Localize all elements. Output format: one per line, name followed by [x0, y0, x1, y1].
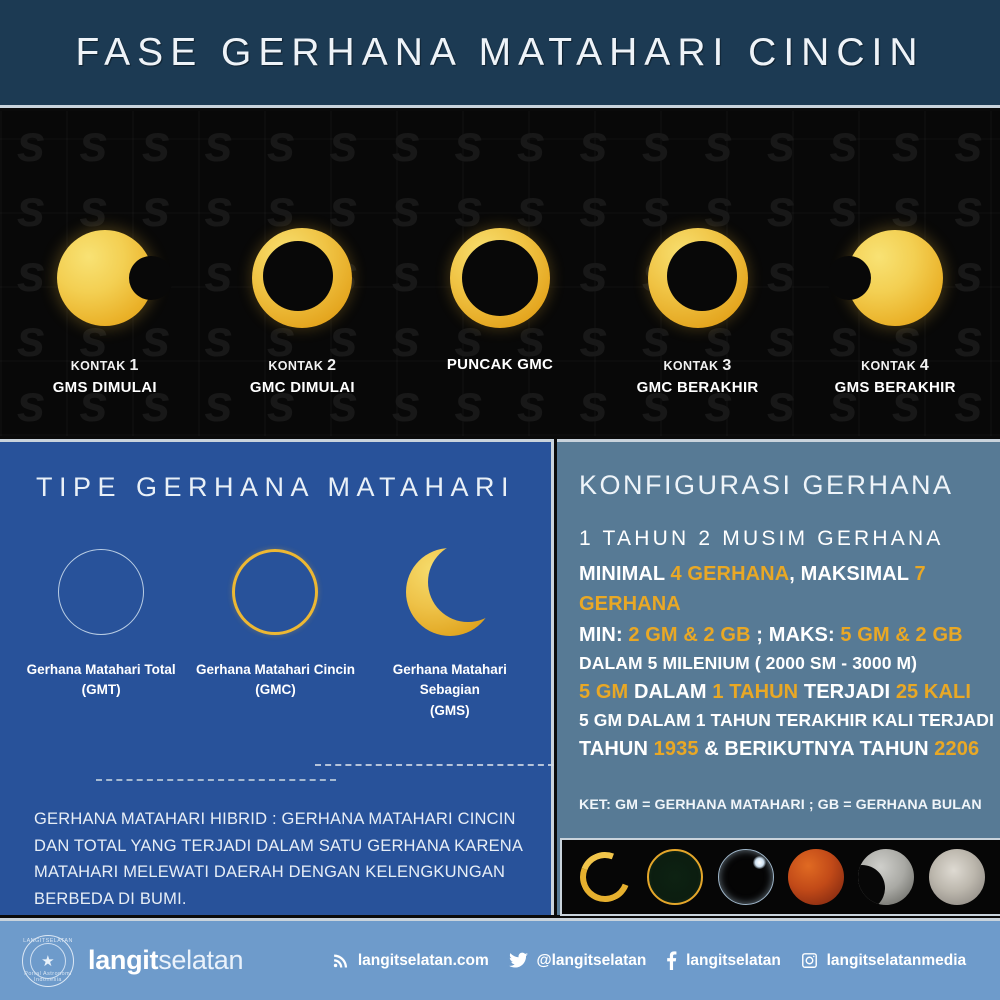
highlight-value: 2206 — [934, 738, 979, 760]
text-segment: ; MAKS: — [751, 624, 841, 646]
phase-art-ring-thin-upper-left — [603, 215, 793, 340]
sun-disc-icon — [847, 230, 943, 326]
types-row: Gerhana Matahari Total (GMT) Gerhana Mat… — [0, 539, 551, 721]
social-label: langitselatanmedia — [827, 952, 967, 970]
type-art — [193, 539, 358, 644]
phase-caption: KONTAK 2 GMC DIMULAI — [207, 354, 397, 399]
social-link-instagram[interactable]: langitselatanmedia — [801, 952, 967, 970]
social-label: langitselatan.com — [358, 952, 489, 970]
type-label-line1: Gerhana Matahari Sebagian — [367, 660, 532, 701]
type-art — [19, 539, 184, 644]
infographic-page: FASE GERHANA MATAHARI CINCIN sssssssssss… — [0, 0, 1000, 1000]
text-segment: , MAKSIMAL — [789, 563, 914, 585]
phase-art-sun-bite-right — [10, 215, 200, 340]
phase-kontak-1: KONTAK 1 GMS DIMULAI — [10, 111, 200, 399]
type-label: Gerhana Matahari Total (GMT) — [19, 660, 184, 701]
hybrid-eclipse-text: GERHANA MATAHARI HIBRID : GERHANA MATAHA… — [34, 806, 532, 913]
social-links: langitselatan.com @langitselatan langits… — [322, 951, 1000, 970]
text-segment: TERJADI — [798, 681, 896, 703]
phase-art-ring-thin-upper-right — [207, 215, 397, 340]
text-segment: MIN: — [579, 624, 628, 646]
moon-bite-icon — [827, 256, 871, 300]
highlight-value: 25 KALI — [896, 681, 971, 703]
phase-kontak-label: KONTAK 3 — [603, 354, 793, 377]
eclipse-phases-section: ssssssssssssssssssssssssssssssssssssssss… — [0, 111, 1000, 436]
photo-blood-moon — [788, 849, 844, 905]
highlight-value: 5 GM & 2 GB — [840, 624, 962, 646]
phase-caption: PUNCAK GMC — [405, 354, 595, 376]
brand-block[interactable]: LANGITSELATAN ★ Portal Astronomi Indones… — [22, 935, 322, 987]
header-banner: FASE GERHANA MATAHARI CINCIN — [0, 0, 1000, 108]
social-label: langitselatan — [686, 952, 781, 970]
config-panel-title: KONFIGURASI GERHANA — [579, 470, 1000, 501]
phase-row: KONTAK 1 GMS DIMULAI — [0, 111, 1000, 436]
brand-name-light: selatan — [158, 945, 243, 975]
config-lines: 1 TAHUN 2 MUSIM GERHANA MINIMAL 4 GERHAN… — [579, 523, 1000, 764]
photo-full-moon — [929, 849, 985, 905]
phase-number: 2 — [327, 357, 336, 374]
logo-bottom-text: Portal Astronomi Indonesia — [23, 971, 73, 983]
logo-top-text: LANGITSELATAN — [23, 938, 73, 944]
highlight-value: 1 TAHUN — [712, 681, 798, 703]
config-line-last-a: 5 GM DALAM 1 TAHUN TERAKHIR KALI TERJADI — [579, 707, 1000, 734]
phase-kontak-3: KONTAK 3 GMC BERAKHIR — [603, 111, 793, 399]
photo-annular-crescent — [577, 849, 633, 905]
config-line-last-b: TAHUN 1935 & BERIKUTNYA TAHUN 2206 — [579, 734, 1000, 764]
annular-ring-icon — [450, 228, 550, 328]
footer-bar: LANGITSELATAN ★ Portal Astronomi Indones… — [0, 918, 1000, 1000]
twitter-icon — [509, 952, 528, 969]
type-label-line2: (GMT) — [19, 680, 184, 700]
type-label-line1: Gerhana Matahari Total — [19, 660, 184, 680]
highlight-value: 1935 — [654, 738, 699, 760]
types-panel-title: TIPE GERHANA MATAHARI — [0, 472, 551, 503]
phase-desc: PUNCAK GMC — [405, 354, 595, 376]
type-art — [367, 539, 532, 644]
phase-art-ring-even — [405, 215, 595, 340]
phase-puncak-gmc: PUNCAK GMC — [405, 111, 595, 376]
config-line-min-max: MINIMAL 4 GERHANA, MAKSIMAL 7 GERHANA — [579, 559, 1000, 620]
phase-kontak-4: KONTAK 4 GMS BERAKHIR — [800, 111, 990, 399]
social-label: @langitselatan — [537, 952, 647, 970]
phase-number: 4 — [920, 357, 929, 374]
instagram-icon — [801, 952, 818, 969]
phase-desc: GMC DIMULAI — [207, 377, 397, 399]
type-label: Gerhana Matahari Cincin (GMC) — [193, 660, 358, 701]
type-gmt: Gerhana Matahari Total (GMT) — [19, 539, 184, 701]
facebook-icon — [666, 951, 677, 970]
type-gms: Gerhana Matahari Sebagian (GMS) — [367, 539, 532, 721]
rss-icon — [332, 952, 349, 969]
phase-kontak-2: KONTAK 2 GMC DIMULAI — [207, 111, 397, 399]
annular-ring-icon — [648, 228, 748, 328]
text-segment: TAHUN — [579, 738, 654, 760]
text-segment: MINIMAL — [579, 563, 671, 585]
langitselatan-logo-icon: LANGITSELATAN ★ Portal Astronomi Indones… — [22, 935, 74, 987]
phase-kontak-label: KONTAK 2 — [207, 354, 397, 377]
phase-caption: KONTAK 3 GMC BERAKHIR — [603, 354, 793, 399]
config-line-millenium: DALAM 5 MILENIUM ( 2000 SM - 3000 M) — [579, 650, 1000, 677]
highlight-value: 5 GM — [579, 681, 628, 703]
phase-desc: GMS DIMULAI — [10, 377, 200, 399]
phase-number: 3 — [722, 357, 731, 374]
config-line-min-max-2: MIN: 2 GM & 2 GB ; MAKS: 5 GM & 2 GB — [579, 620, 1000, 650]
social-link-facebook[interactable]: langitselatan — [666, 951, 781, 970]
highlight-value: 4 GERHANA — [671, 563, 790, 585]
annular-eclipse-ring-icon — [232, 549, 318, 635]
phase-kontak-label: KONTAK 4 — [800, 354, 990, 377]
left-panel-divider — [315, 764, 554, 766]
type-label: Gerhana Matahari Sebagian (GMS) — [367, 660, 532, 721]
brand-name-bold: langit — [88, 945, 158, 975]
config-legend-text: KET: GM = GERHANA MATAHARI ; GB = GERHAN… — [579, 797, 982, 813]
phase-desc: GMC BERAKHIR — [603, 377, 793, 399]
sun-disc-icon — [57, 230, 153, 326]
phase-desc: GMS BERAKHIR — [800, 377, 990, 399]
phase-number: 1 — [130, 357, 139, 374]
page-title: FASE GERHANA MATAHARI CINCIN — [76, 31, 925, 75]
type-label-line1: Gerhana Matahari Cincin — [193, 660, 358, 680]
phase-kontak-label: KONTAK 1 — [10, 354, 200, 377]
phase-caption: KONTAK 1 GMS DIMULAI — [10, 354, 200, 399]
brand-name: langitselatan — [88, 945, 243, 976]
annular-ring-icon — [252, 228, 352, 328]
phase-caption: KONTAK 4 GMS BERAKHIR — [800, 354, 990, 399]
moon-bite-icon — [129, 256, 173, 300]
highlight-value: 2 GM & 2 GB — [628, 624, 750, 646]
config-line-season: 1 TAHUN 2 MUSIM GERHANA — [579, 523, 1000, 555]
photo-annular-dark — [647, 849, 703, 905]
type-label-line2: (GMC) — [193, 680, 358, 700]
phase-art-sun-bite-left — [800, 215, 990, 340]
config-line-25-kali: 5 GM DALAM 1 TAHUN TERJADI 25 KALI — [579, 677, 1000, 707]
social-link-twitter[interactable]: @langitselatan — [509, 952, 647, 970]
photo-total-diamond-ring — [718, 849, 774, 905]
type-gmc: Gerhana Matahari Cincin (GMC) — [193, 539, 358, 701]
text-segment: & BERIKUTNYA TAHUN — [699, 738, 935, 760]
type-label-line2: (GMS) — [367, 701, 532, 721]
total-eclipse-ring-icon — [58, 549, 144, 635]
right-panel-divider — [96, 779, 336, 781]
text-segment: DALAM — [628, 681, 712, 703]
eclipse-photo-strip — [560, 838, 1000, 916]
photo-partial-lunar — [858, 849, 914, 905]
partial-eclipse-crescent-icon — [406, 548, 494, 636]
social-link-rss[interactable]: langitselatan.com — [332, 952, 489, 970]
